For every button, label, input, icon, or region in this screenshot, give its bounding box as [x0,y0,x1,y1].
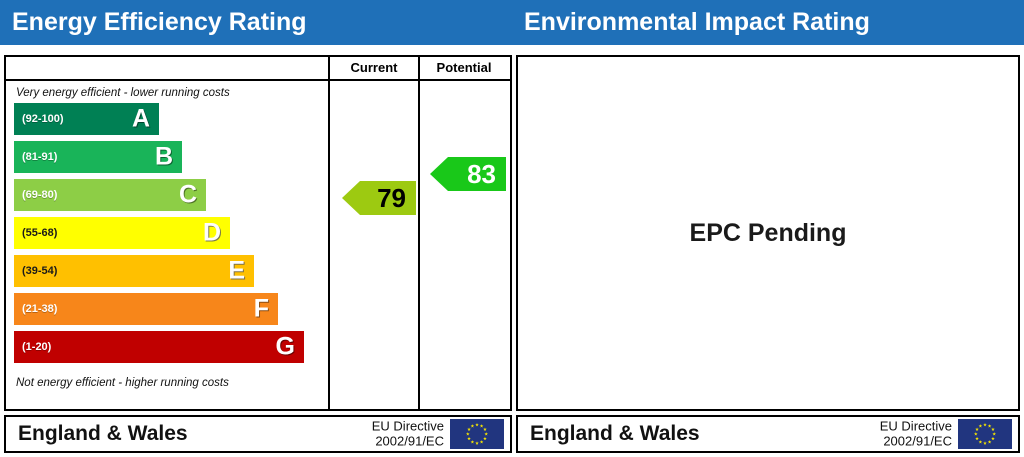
environmental-impact-title: Environmental Impact Rating [524,8,870,37]
footer-right-directive-line1: EU Directive [880,419,952,434]
potential-rating-value: 83 [467,161,496,187]
footer-left-directive-line1: EU Directive [372,419,444,434]
band-e-letter: E [228,259,245,284]
caption-very-efficient: Very energy efficient - lower running co… [16,87,230,99]
band-g: (1-20) G [14,331,304,363]
band-b-range: (81-91) [22,151,57,163]
environmental-impact-panel: EPC Pending [516,55,1020,411]
band-b: (81-91) B [14,141,182,173]
band-d: (55-68) D [14,217,230,249]
band-d-letter: D [203,221,221,246]
caption-not-efficient: Not energy efficient - higher running co… [16,377,229,389]
band-f: (21-38) F [14,293,278,325]
epc-chart-root: Energy Efficiency Rating Environmental I… [0,0,1024,457]
eu-flag-icon [450,419,504,449]
band-c-range: (69-80) [22,189,57,201]
column-divider-2 [418,81,420,411]
band-a-range: (92-100) [22,113,64,125]
footer-right-directive-line2: 2002/91/EC [880,434,952,449]
footer-right-region: England & Wales [530,422,700,446]
band-g-letter: G [276,335,295,360]
epc-pending-message: EPC Pending [518,57,1018,409]
title-bar: Energy Efficiency Rating Environmental I… [0,0,1024,45]
band-b-letter: B [155,145,173,170]
band-f-range: (21-38) [22,303,57,315]
band-g-range: (1-20) [22,341,51,353]
current-rating-arrow: 79 [342,181,416,215]
band-a-letter: A [132,107,150,132]
footer-left-directive-line2: 2002/91/EC [372,434,444,449]
rating-bands: (92-100) A (81-91) B (69-80) C (55-68) D… [14,103,322,373]
column-header-current: Current [328,57,418,79]
column-header-row: Current Potential [6,57,510,81]
footer-right-directive: EU Directive 2002/91/EC [880,419,952,450]
column-divider-1 [328,81,330,411]
column-header-potential: Potential [418,57,508,79]
band-c-letter: C [179,183,197,208]
energy-efficiency-title: Energy Efficiency Rating [12,8,307,37]
band-e: (39-54) E [14,255,254,287]
eu-flag-icon [958,419,1012,449]
footer-right: England & Wales EU Directive 2002/91/EC [516,415,1020,453]
footer-left: England & Wales EU Directive 2002/91/EC [4,415,512,453]
potential-rating-arrow: 83 [430,157,506,191]
band-a: (92-100) A [14,103,159,135]
energy-efficiency-panel: Current Potential Very energy efficient … [4,55,512,411]
current-rating-value: 79 [377,185,406,211]
footer-left-directive: EU Directive 2002/91/EC [372,419,444,450]
footer-left-region: England & Wales [18,422,188,446]
band-c: (69-80) C [14,179,206,211]
band-e-range: (39-54) [22,265,57,277]
band-d-range: (55-68) [22,227,57,239]
band-f-letter: F [254,297,269,322]
